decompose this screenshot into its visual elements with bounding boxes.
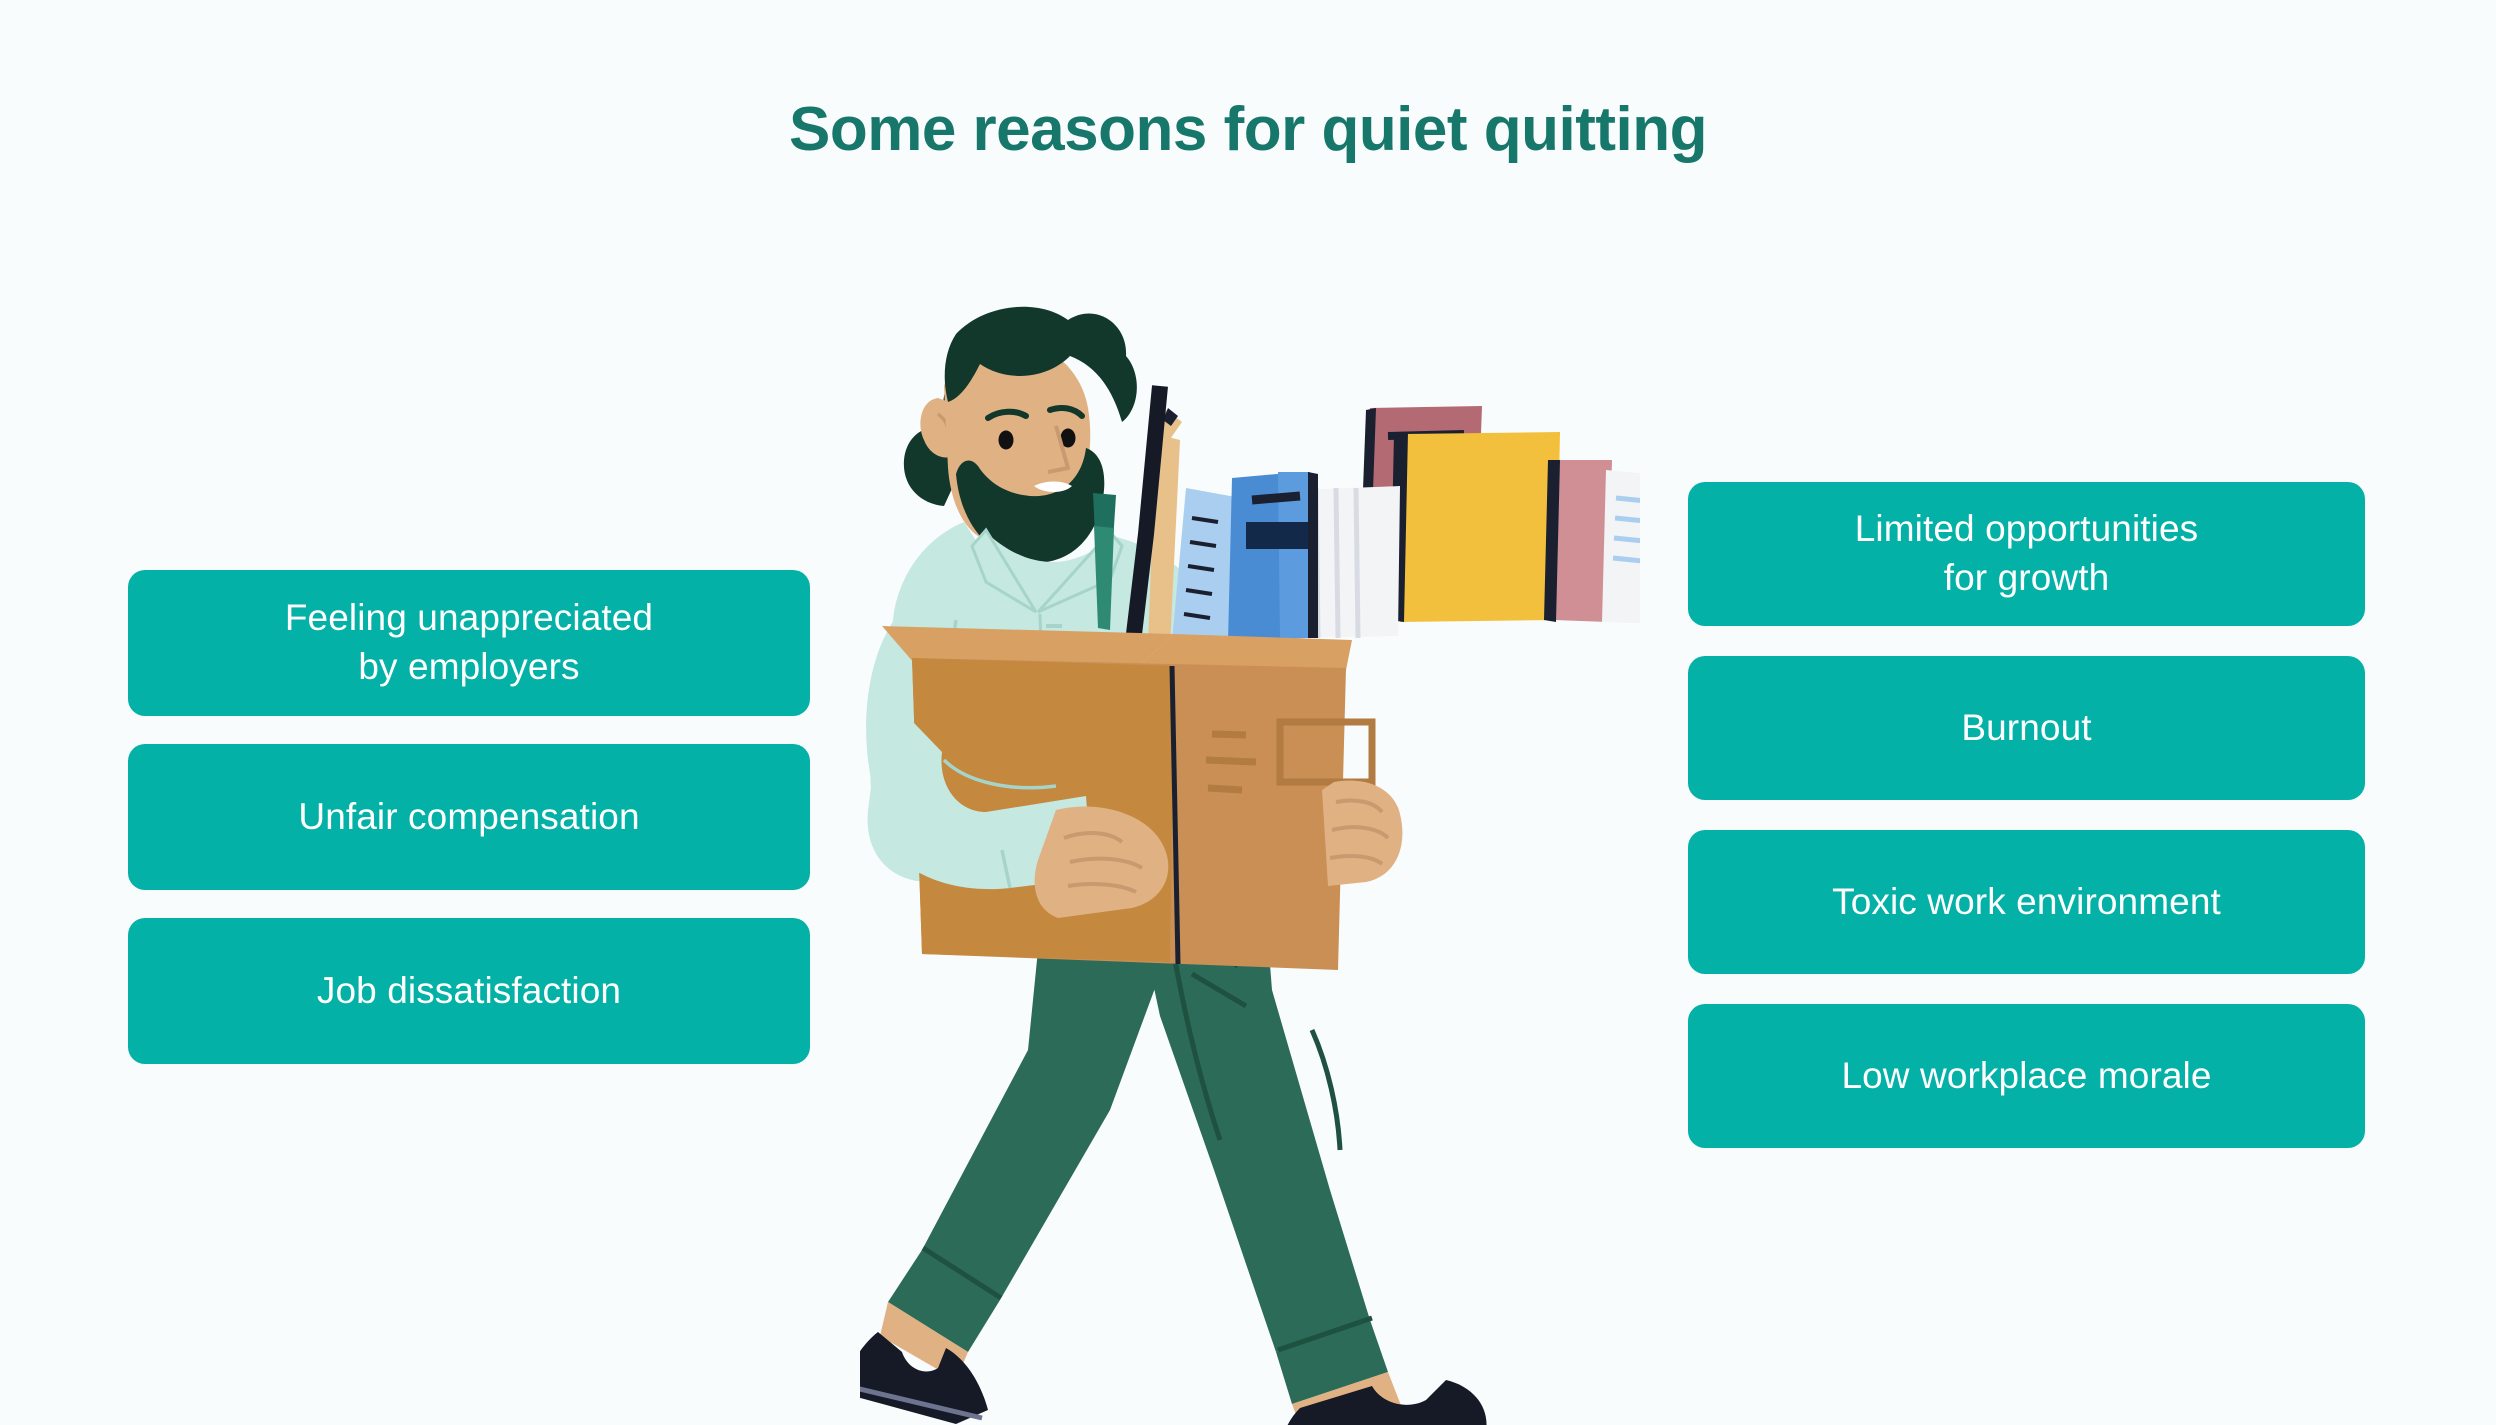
reason-line-1: Burnout	[1961, 704, 2091, 753]
reason-pill-unfair-compensation[interactable]: Unfair compensation	[128, 744, 810, 890]
reason-line-1: Unfair compensation	[298, 793, 639, 842]
reason-pill-low-workplace-morale[interactable]: Low workplace morale	[1688, 1004, 2365, 1148]
reason-line-1: Feeling unappreciated	[285, 594, 653, 643]
reason-line-1: Job dissatisfaction	[317, 967, 621, 1016]
reason-line-2: by employers	[285, 643, 653, 692]
infographic-canvas: Some reasons for quiet quitting	[0, 0, 2496, 1425]
reason-pill-job-dissatisfaction[interactable]: Job dissatisfaction	[128, 918, 810, 1064]
reason-line-1: Low workplace morale	[1841, 1052, 2211, 1101]
reason-line-1: Limited opportunities	[1855, 505, 2199, 554]
cardboard-box	[882, 626, 1372, 970]
reason-pill-burnout[interactable]: Burnout	[1688, 656, 2365, 800]
reason-line-2: for growth	[1855, 554, 2199, 603]
box-contents	[1093, 406, 1640, 650]
reason-pill-toxic-work-environment[interactable]: Toxic work environment	[1688, 830, 2365, 974]
reason-pill-limited-opportunities-for-growth[interactable]: Limited opportunities for growth	[1688, 482, 2365, 626]
reason-line-1: Toxic work environment	[1832, 878, 2221, 927]
reason-pill-feeling-unappreciated[interactable]: Feeling unappreciated by employers	[128, 570, 810, 716]
page-title: Some reasons for quiet quitting	[0, 96, 2496, 164]
illustration-man-carrying-box	[860, 290, 1640, 1425]
